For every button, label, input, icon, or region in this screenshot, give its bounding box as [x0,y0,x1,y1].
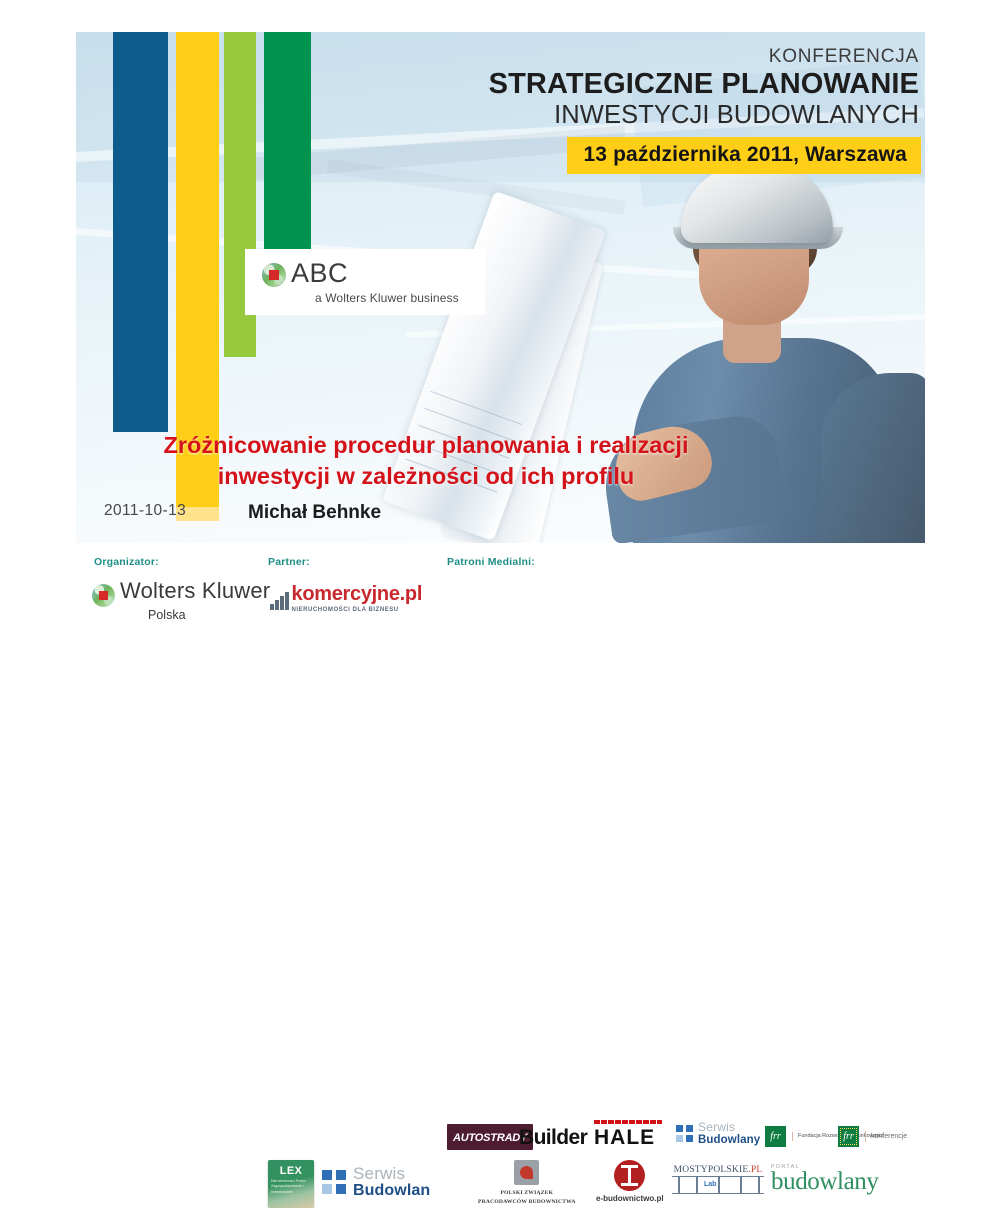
budowlany-name: budowlany [771,1168,879,1196]
slide-canvas: KONFERENCJA STRATEGICZNE PLANOWANIE INWE… [76,32,925,543]
title-line-1: Zróżnicowanie procedur planowania i real… [76,430,776,461]
serwis-media-line1: Serwis [698,1121,760,1134]
ebudownictwo-mark-icon [614,1160,645,1191]
komercyjne-name: komercyjne.pl [292,584,423,604]
mostypolskie-label: Lab [704,1181,716,1188]
frr-mark-icon: frr [838,1126,859,1147]
conference-title-line2: INWESTYCJI BUDOWLANYCH [431,101,919,129]
wolters-kluwer-name: Wolters Kluwer [120,580,270,602]
label-partner: Partner: [268,556,310,568]
label-organizer: Organizator: [94,556,159,568]
pzpb-mark-icon [514,1160,539,1185]
decorative-bar-blue [113,32,168,432]
komercyjne-logo: komercyjne.pl NIERUCHOMOŚCI DLA BIZNESU [270,584,422,613]
conference-title-line1: STRATEGICZNE PLANOWANIE [431,69,919,100]
serwis-budowlany-logo-partner: Serwis Budowlan [322,1165,430,1200]
abc-logo: ABC a Wolters Kluwer business [245,249,485,315]
slide-author: Michał Behnke [248,502,381,524]
frr-mark-icon: frr [765,1126,786,1147]
person-shoulder [821,373,925,543]
hard-hat-icon [681,165,833,243]
frr-mark-text: frr [843,1131,854,1142]
slide-date: 2011-10-13 [104,502,186,520]
budowlany-logo: PORTAL budowlany [771,1164,879,1196]
hale-logo: HALE [594,1120,662,1150]
mostypolskie-name: MOSTYPOLSKIE [674,1165,749,1175]
serwis-line1: Serwis [353,1165,430,1183]
lex-title: LEX [268,1165,314,1177]
conference-header: KONFERENCJA STRATEGICZNE PLANOWANIE INWE… [431,32,921,174]
frr-konferencje-logo: frr konferencje [838,1126,907,1147]
conference-date-wrap: 13 października 2011, Warszawa [431,137,921,174]
bar-chart-icon [270,592,289,610]
autostrady-name: AUTOSTRADY [453,1132,527,1144]
serwis-line2: Budowlan [353,1183,430,1200]
square-grid-icon [322,1170,346,1194]
serwis-budowlany-logo-media: Serwis Budowlany [676,1121,760,1146]
ebudownictwo-logo: e-budownictwo.pl [596,1160,664,1203]
hale-red-bar [594,1120,662,1124]
frr-konferencje-text: konferencje [865,1131,907,1143]
book-cover-icon: LEX Nieruchomości Prawo Zagospodarowanie… [268,1160,314,1208]
pzpb-logo: POLSKI ZWIĄZEK PRACODAWCÓW BUDOWNICTWA [478,1160,576,1207]
hale-name: HALE [594,1126,662,1150]
komercyjne-tagline: NIERUCHOMOŚCI DLA BIZNESU [292,607,423,613]
globe-icon [262,263,286,287]
wolters-kluwer-logo: Wolters Kluwer Polska [92,580,270,622]
lex-subtitle: Nieruchomości Prawo Zagospodarowanie i I… [271,1179,311,1195]
square-grid-icon [676,1125,693,1142]
decorative-bar-dark-green [264,32,311,272]
label-media-patrons: Patroni Medialni: [447,556,535,568]
title-line-2: inwestycji w zależności od ich profilu [76,461,776,492]
pzpb-line1: POLSKI ZWIĄZEK [500,1190,553,1196]
mostypolskie-logo: MOSTYPOLSKIE.PL Lab [672,1165,764,1194]
abc-logo-name: ABC [291,260,459,287]
serwis-media-line2: Budowlany [698,1134,760,1146]
pzpb-line2: PRACODAWCÓW BUDOWNICTWA [478,1199,576,1205]
abc-logo-tagline: a Wolters Kluwer business [315,292,459,304]
bridge-icon: Lab [672,1176,764,1194]
frr-mark-text: frr [770,1131,781,1142]
conference-date-banner: 13 października 2011, Warszawa [567,137,921,174]
globe-icon [92,584,115,607]
sponsor-footer: Organizator: Partner: Patroni Medialni: … [0,548,992,701]
ebudownictwo-name: e-budownictwo.pl [596,1194,664,1203]
conference-kicker: KONFERENCJA [431,46,919,68]
wolters-kluwer-sub: Polska [148,608,270,622]
presentation-title: Zróżnicowanie procedur planowania i real… [76,430,776,492]
builder-logo: Builder [519,1126,587,1150]
lex-logo: LEX Nieruchomości Prawo Zagospodarowanie… [268,1160,314,1208]
mostypolskie-tld: .PL [748,1165,762,1175]
